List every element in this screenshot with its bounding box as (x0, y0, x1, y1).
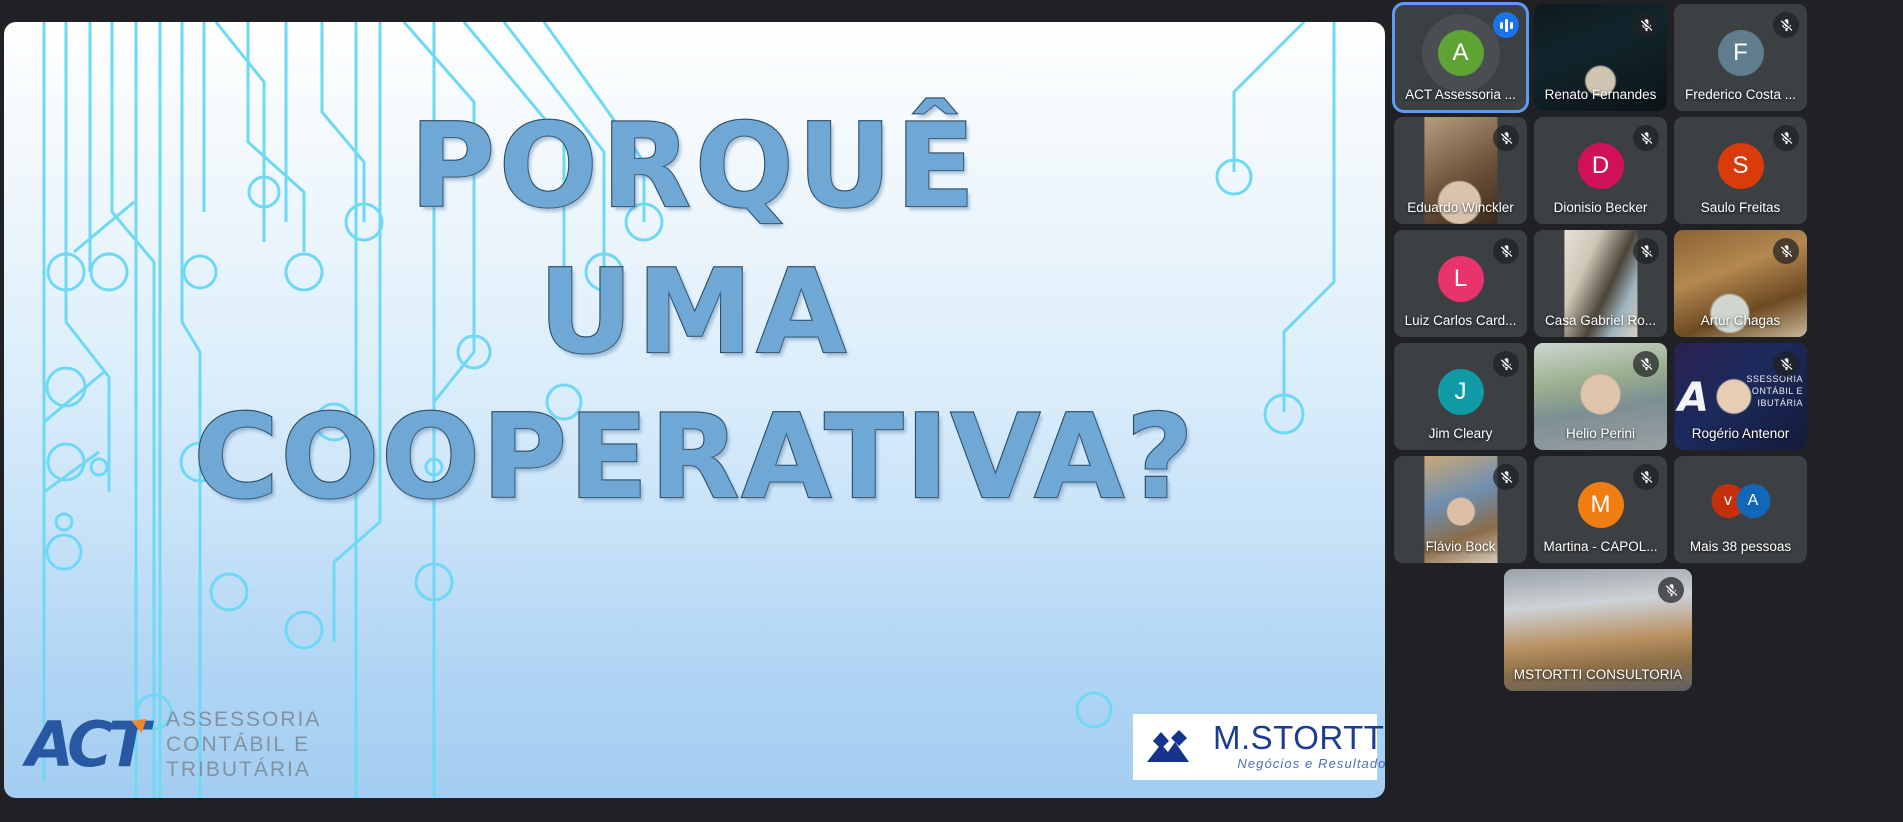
avatar: A (1438, 30, 1484, 76)
participant-tile[interactable]: MSTORTTI CONSULTORIA (1504, 569, 1692, 691)
act-watermark-text: SSESSORIAONTÁBIL EIBUTÁRIA (1676, 373, 1803, 409)
mic-off-icon[interactable] (1658, 577, 1684, 603)
participant-name: Helio Perini (1534, 426, 1667, 441)
mic-off-icon (1639, 357, 1654, 372)
act-tagline-line-1: ASSESSORIA (166, 707, 321, 732)
act-logo-letters: ACT (26, 713, 138, 777)
mic-off-icon (1499, 357, 1514, 372)
slide-title: PORQUÊ UMA COOPERATIVA? (4, 108, 1385, 517)
participant-tile[interactable]: Flávio Bock (1394, 456, 1527, 563)
meeting-screen: PORQUÊ UMA COOPERATIVA? ACT ASSESSORIA C… (0, 0, 1903, 822)
mic-off-icon[interactable] (1773, 351, 1799, 377)
mstortti-text: M.STORTTI Negócios e Resultados (1213, 722, 1385, 771)
participant-name: Flávio Bock (1394, 539, 1527, 554)
participant-name: Artur Chagas (1674, 313, 1807, 328)
avatar: D (1578, 143, 1624, 189)
slide-title-line-2: UMA (4, 254, 1385, 372)
avatar: F (1718, 30, 1764, 76)
presentation-stage[interactable]: PORQUÊ UMA COOPERATIVA? ACT ASSESSORIA C… (0, 0, 1385, 822)
participant-name: Rogério Antenor (1674, 426, 1807, 441)
participant-tile[interactable]: L Luiz Carlos Card... (1394, 230, 1527, 337)
participant-tile[interactable]: Eduardo Winckler (1394, 117, 1527, 224)
act-logo: ACT ASSESSORIA CONTÁBIL E TRIBUTÁRIA (26, 707, 321, 782)
participant-name: Jim Cleary (1394, 426, 1527, 441)
act-logo-mark: ACT (26, 713, 138, 777)
mic-off-icon[interactable] (1633, 125, 1659, 151)
mic-off-icon[interactable] (1773, 238, 1799, 264)
participant-name: Frederico Costa ... (1674, 87, 1807, 102)
mic-off-icon[interactable] (1633, 351, 1659, 377)
mic-off-icon[interactable] (1633, 464, 1659, 490)
participant-name: MSTORTTI CONSULTORIA (1504, 667, 1692, 682)
mic-off-icon (1499, 470, 1514, 485)
mic-off-icon (1779, 244, 1794, 259)
mic-off-icon[interactable] (1633, 238, 1659, 264)
mic-off-icon (1639, 244, 1654, 259)
mstortti-mountain-icon (1145, 728, 1201, 766)
participant-tile[interactable]: Artur Chagas (1674, 230, 1807, 337)
participant-tile[interactable]: M Martina - CAPOL... (1534, 456, 1667, 563)
participant-name: Martina - CAPOL... (1534, 539, 1667, 554)
act-logo-tagline: ASSESSORIA CONTÁBIL E TRIBUTÁRIA (166, 707, 321, 782)
participant-name: Dionisio Becker (1534, 200, 1667, 215)
mic-off-icon (1664, 583, 1679, 598)
mic-off-icon (1779, 357, 1794, 372)
mic-off-icon[interactable] (1773, 12, 1799, 38)
mic-off-icon[interactable] (1493, 238, 1519, 264)
participant-name: Saulo Freitas (1674, 200, 1807, 215)
slide-title-line-1: PORQUÊ (4, 108, 1385, 226)
participant-tile[interactable]: vAMais 38 pessoas (1674, 456, 1807, 563)
participant-tile[interactable]: D Dionisio Becker (1534, 117, 1667, 224)
mic-off-icon (1639, 470, 1654, 485)
mic-off-icon[interactable] (1493, 125, 1519, 151)
audio-wave-icon (1493, 12, 1519, 38)
avatar: M (1578, 482, 1624, 528)
participant-tile[interactable]: Renato Fernandes (1534, 4, 1667, 111)
mstortti-tagline: Negócios e Resultados (1237, 756, 1385, 771)
participant-tile[interactable]: AACT Assessoria ... (1394, 4, 1527, 111)
participant-tile[interactable]: F Frederico Costa ... (1674, 4, 1807, 111)
mic-off-icon[interactable] (1493, 351, 1519, 377)
mic-off-icon (1639, 131, 1654, 146)
participant-name: Renato Fernandes (1534, 87, 1667, 102)
participant-tile[interactable]: Casa Gabriel Ro... (1534, 230, 1667, 337)
overflow-avatars: vA (1711, 484, 1770, 518)
shared-slide[interactable]: PORQUÊ UMA COOPERATIVA? ACT ASSESSORIA C… (4, 22, 1385, 798)
participant-tile[interactable]: S Saulo Freitas (1674, 117, 1807, 224)
participant-tile[interactable]: Helio Perini (1534, 343, 1667, 450)
avatar: J (1438, 369, 1484, 415)
participant-name: Luiz Carlos Card... (1394, 313, 1527, 328)
slide-title-line-3: COOPERATIVA? (4, 399, 1385, 517)
mic-off-icon (1499, 131, 1514, 146)
participant-name: Mais 38 pessoas (1674, 539, 1807, 554)
avatar: A (1736, 484, 1770, 518)
mic-off-icon (1779, 18, 1794, 33)
mic-off-icon (1639, 18, 1654, 33)
mic-off-icon (1779, 131, 1794, 146)
mic-off-icon[interactable] (1633, 12, 1659, 38)
participant-name: ACT Assessoria ... (1394, 87, 1527, 102)
act-tagline-line-3: TRIBUTÁRIA (166, 757, 321, 782)
participant-name: Eduardo Winckler (1394, 200, 1527, 215)
act-tagline-line-2: CONTÁBIL E (166, 732, 321, 757)
mic-off-icon[interactable] (1493, 464, 1519, 490)
participant-name: Casa Gabriel Ro... (1534, 313, 1667, 328)
mstortti-logo: M.STORTTI Negócios e Resultados (1133, 714, 1377, 780)
mstortti-name: M.STORTTI (1213, 722, 1385, 754)
avatar: L (1438, 256, 1484, 302)
participant-grid[interactable]: AACT Assessoria ... Renato FernandesF Fr… (1392, 0, 1903, 822)
participant-tile[interactable]: ASSESSORIAONTÁBIL EIBUTÁRIA Rogério Ante… (1674, 343, 1807, 450)
avatar: S (1718, 143, 1764, 189)
participant-tile[interactable]: J Jim Cleary (1394, 343, 1527, 450)
mic-off-icon (1499, 244, 1514, 259)
mic-off-icon[interactable] (1773, 125, 1799, 151)
